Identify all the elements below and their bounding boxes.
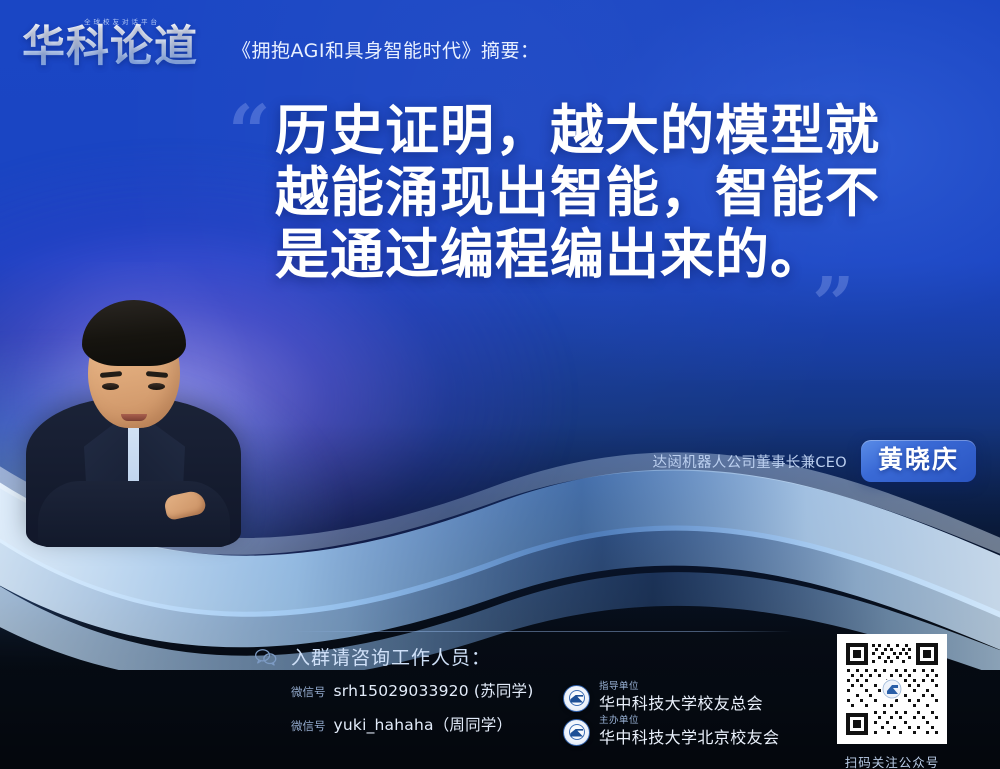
portrait-hair (82, 300, 186, 366)
organizer-name: 华中科技大学校友总会 (599, 694, 763, 713)
contact-label: 微信号 (291, 684, 326, 700)
footer-heading-row: 入群请咨询工作人员： (255, 643, 815, 670)
qr-section: 扫码关注公众号 (833, 634, 951, 769)
footer-divider (288, 631, 792, 632)
portrait-mouth (121, 414, 147, 421)
portrait-crossed-arms (38, 481, 230, 547)
quote-line: 是通过编程编出来的。 (275, 224, 955, 286)
organizer-row: 主办单位 华中科技大学北京校友会 (563, 715, 779, 749)
footer-columns: 微信号 srh15029033920 (苏同学) 微信号 yuki_hahaha… (255, 679, 815, 749)
contact-value[interactable]: srh15029033920 (苏同学) (334, 679, 534, 701)
portrait-eyebrow-left (99, 371, 121, 378)
quote-line: 越能涌现出智能，智能不 (275, 162, 955, 224)
wechat-icon (255, 648, 277, 666)
organizer-row: 指导单位 华中科技大学校友总会 (563, 681, 779, 715)
organizer-text: 指导单位 华中科技大学校友总会 (599, 682, 763, 713)
contact-label: 微信号 (291, 718, 326, 734)
organizer-name: 华中科技大学北京校友会 (599, 728, 779, 747)
organizer-list: 指导单位 华中科技大学校友总会 主办单位 华中科技大学北京校友会 (563, 679, 779, 749)
portrait-eye-left (102, 383, 119, 390)
organizer-text: 主办单位 华中科技大学北京校友会 (599, 716, 779, 747)
qr-code-pattern (842, 639, 942, 739)
portrait-eye-right (148, 383, 165, 390)
qr-code-icon[interactable] (837, 634, 947, 744)
portrait-eyebrow-right (145, 371, 167, 378)
university-seal-icon (563, 719, 590, 746)
footer: 入群请咨询工作人员： 微信号 srh15029033920 (苏同学) 微信号 … (255, 643, 815, 749)
page-title: 《拥抱AGI和具身智能时代》摘要： (232, 36, 540, 72)
quote-line: 历史证明，越大的模型就 (275, 100, 955, 162)
speaker-role: 达闼机器人公司董事长兼CEO (653, 451, 847, 472)
contact-list: 微信号 srh15029033920 (苏同学) 微信号 yuki_hahaha… (255, 679, 545, 749)
organizer-kind: 主办单位 (599, 716, 779, 726)
speaker-name-badge: 黄晓庆 (861, 440, 976, 482)
poster-root: 全球校友对话平台 华科论道 《拥抱AGI和具身智能时代》摘要： “ ” 历史证明… (0, 0, 1000, 769)
qr-caption: 扫码关注公众号 (833, 752, 951, 769)
quote-text: 历史证明，越大的模型就 越能涌现出智能，智能不 是通过编程编出来的。 (275, 100, 955, 286)
attribution: 达闼机器人公司董事长兼CEO 黄晓庆 (653, 440, 976, 482)
footer-heading: 入群请咨询工作人员： (291, 643, 491, 670)
organizer-kind: 指导单位 (599, 682, 763, 692)
logo-wordmark: 华科论道 (22, 22, 198, 72)
speaker-portrait (26, 292, 241, 547)
contact-row: 微信号 yuki_hahaha（周同学） (291, 713, 545, 747)
university-seal-icon (563, 685, 590, 712)
header: 全球校友对话平台 华科论道 《拥抱AGI和具身智能时代》摘要： (22, 14, 540, 72)
speaker-name: 黄晓庆 (878, 445, 959, 474)
brand-logo: 全球校友对话平台 华科论道 (22, 14, 218, 72)
contact-value[interactable]: yuki_hahaha（周同学） (334, 713, 513, 735)
contact-row: 微信号 srh15029033920 (苏同学) (291, 679, 545, 713)
quote-open-mark: “ (228, 96, 271, 170)
